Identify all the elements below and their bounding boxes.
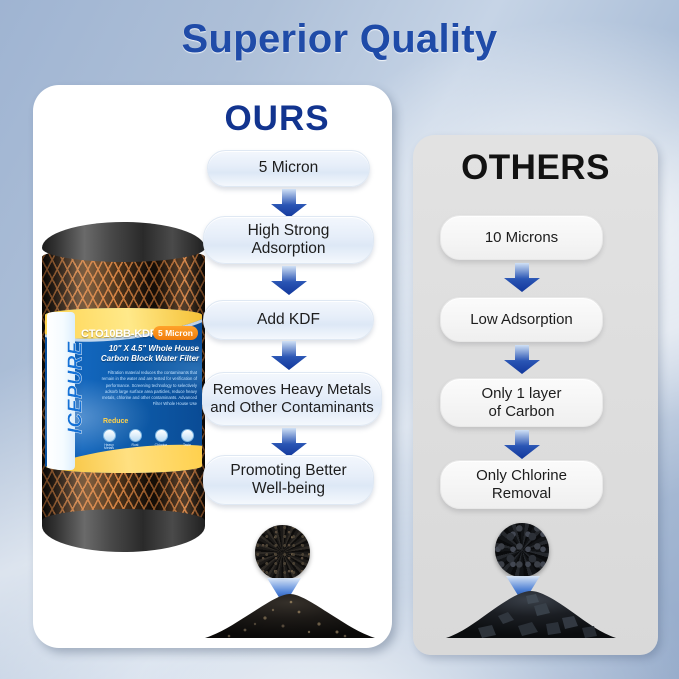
- filter-label: ICEPURE CTO10BB-KDF 5 Micron 10" X 4.5" …: [45, 308, 202, 473]
- ours-arrow-2: [270, 266, 308, 296]
- others-heading: OTHERS: [428, 148, 643, 188]
- reduce-item: Heavy Metals: [99, 429, 119, 451]
- others-step-3: Only 1 layer of Carbon: [440, 378, 603, 427]
- others-arrow-1: [503, 263, 541, 293]
- ours-step-3: Add KDF: [203, 300, 374, 340]
- ours-carbon-magnified-circle: [255, 525, 310, 580]
- label-body-copy: Filtration material reduces the contamin…: [97, 370, 197, 408]
- ours-step-2: High Strong Adsorption: [203, 216, 374, 264]
- chlorine-icon: [155, 429, 168, 442]
- reduce-item: Rust: [125, 429, 145, 451]
- reduce-item-label: Rust: [125, 444, 145, 448]
- ours-step-1: 5 Micron: [207, 150, 370, 187]
- ours-step-4: Removes Heavy Metals and Other Contamina…: [202, 372, 382, 426]
- others-step-4: Only Chlorine Removal: [440, 460, 603, 509]
- page-title: Superior Quality: [0, 17, 679, 62]
- product-sku: CTO10BB-KDF: [81, 328, 156, 340]
- reduce-item: Chlorine: [151, 429, 171, 451]
- others-carbon-illustration: [438, 520, 623, 640]
- filter-bottom-cap: [42, 509, 205, 552]
- filter-cartridge: ICEPURE CTO10BB-KDF 5 Micron 10" X 4.5" …: [42, 222, 205, 552]
- ours-arrow-1: [270, 189, 308, 219]
- reduce-label: Reduce: [103, 418, 128, 425]
- rust-icon: [129, 429, 142, 442]
- reduce-item-label: Chlorine: [151, 444, 171, 448]
- others-step-1: 10 Microns: [440, 215, 603, 260]
- others-carbon-magnified-circle: [495, 523, 549, 577]
- others-carbon-pile: [438, 586, 623, 640]
- reduce-icon-row: Heavy Metals Rust Chlorine Taste: [99, 429, 197, 451]
- product-filter-image: ICEPURE CTO10BB-KDF 5 Micron 10" X 4.5" …: [42, 222, 205, 559]
- reduce-item-label: Taste: [177, 444, 197, 448]
- ours-carbon-pile: [195, 588, 385, 640]
- ours-carbon-illustration: [195, 520, 385, 640]
- ours-step-5: Promoting Better Well-being: [203, 455, 374, 505]
- others-arrow-3: [503, 430, 541, 460]
- micron-badge: 5 Micron: [153, 326, 198, 340]
- product-subtitle: 10" X 4.5" Whole House Carbon Block Wate…: [99, 344, 199, 364]
- ours-heading: OURS: [172, 99, 382, 139]
- filter-top-cap: [42, 222, 205, 262]
- ours-arrow-4: [270, 428, 308, 458]
- reduce-item-label: Heavy Metals: [99, 444, 119, 451]
- others-arrow-2: [503, 345, 541, 375]
- others-step-2: Low Adsorption: [440, 297, 603, 342]
- ours-arrow-3: [270, 341, 308, 371]
- reduce-item: Taste: [177, 429, 197, 451]
- taste-icon: [181, 429, 194, 442]
- heavy-metals-icon: [103, 429, 116, 442]
